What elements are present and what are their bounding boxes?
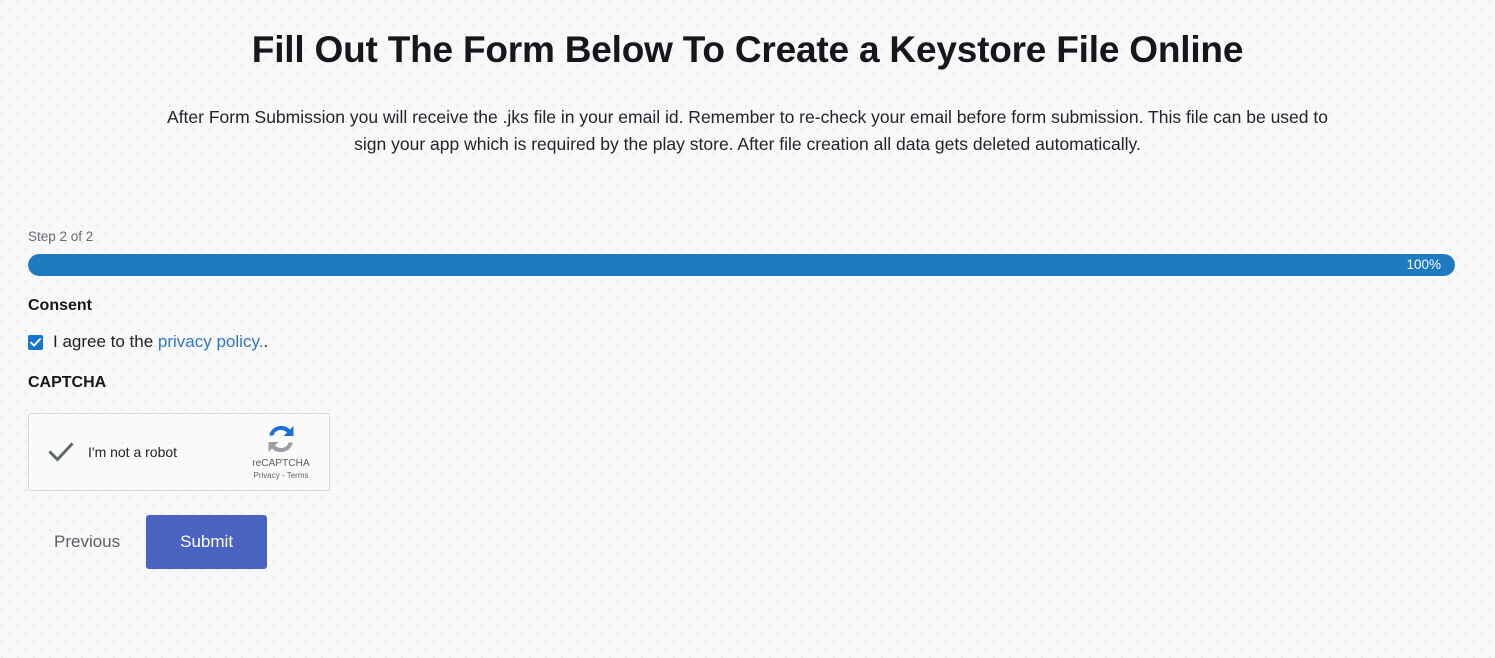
progress-bar: 100% [28, 254, 1455, 276]
page-description: After Form Submission you will receive t… [158, 74, 1338, 158]
consent-text-after: . [263, 332, 268, 351]
consent-label: I agree to the privacy policy.. [53, 331, 268, 353]
captcha-section-heading: CAPTCHA [28, 372, 1455, 394]
keystore-form-page: Fill Out The Form Below To Create a Keys… [0, 0, 1495, 658]
consent-section-heading: Consent [28, 295, 1455, 317]
recaptcha-branding: reCAPTCHA Privacy - Terms [243, 423, 319, 481]
form-actions: Previous Submit [28, 515, 1455, 569]
progress-bar-fill: 100% [28, 254, 1455, 276]
submit-button[interactable]: Submit [146, 515, 267, 569]
recaptcha-legal-separator: - [282, 471, 285, 480]
recaptcha-logo-icon [243, 423, 319, 455]
checkmark-icon [29, 336, 42, 349]
step-indicator: Step 2 of 2 [28, 228, 1455, 246]
consent-row: I agree to the privacy policy.. [28, 331, 1455, 353]
keystore-form: Step 2 of 2 100% Consent I agree to the … [28, 228, 1455, 569]
recaptcha-terms-link[interactable]: Terms [287, 471, 309, 480]
consent-text-before: I agree to the [53, 332, 158, 351]
recaptcha-brand-name: reCAPTCHA [243, 458, 319, 470]
recaptcha-verified-check-icon [47, 438, 75, 466]
privacy-policy-link[interactable]: privacy policy. [158, 332, 264, 351]
previous-button[interactable]: Previous [28, 515, 146, 569]
recaptcha-label: I'm not a robot [88, 443, 177, 461]
consent-checkbox[interactable] [28, 335, 43, 350]
recaptcha-privacy-link[interactable]: Privacy [254, 471, 280, 480]
page-title: Fill Out The Form Below To Create a Keys… [0, 0, 1495, 74]
progress-percent-label: 100% [1406, 254, 1455, 276]
recaptcha-legal-links: Privacy - Terms [243, 471, 319, 481]
recaptcha-widget[interactable]: I'm not a robot reCAPTCHA Privac [28, 413, 330, 491]
